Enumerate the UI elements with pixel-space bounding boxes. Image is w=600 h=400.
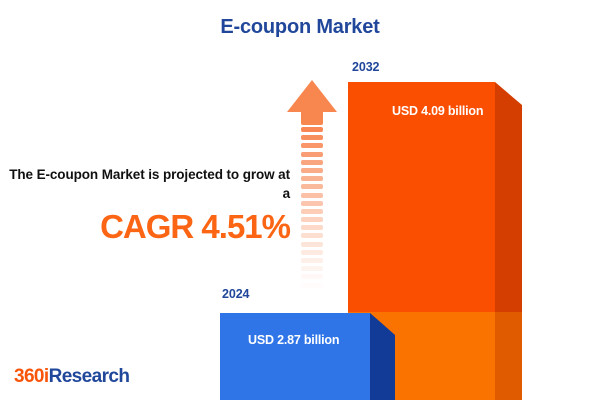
statement-block: The E-coupon Market is projected to grow… — [8, 165, 290, 246]
statement-line-2-text: grow at a — [243, 167, 290, 201]
infographic-canvas: E-coupon Market The E-coupon Market is p… — [0, 0, 600, 400]
arrow-stripe — [301, 135, 323, 140]
brand-logo-part-2: Research — [49, 366, 130, 387]
arrow-stripe — [301, 201, 323, 206]
page-title: E-coupon Market — [0, 16, 600, 39]
arrow-stripe — [301, 193, 323, 198]
arrow-head-icon — [287, 80, 337, 112]
arrow-stripe — [301, 127, 323, 132]
bar-2024: USD 2.87 billion — [220, 313, 400, 400]
arrow-stripe-stack — [301, 127, 323, 295]
bar-2032-value-label: USD 4.09 billion — [392, 104, 483, 118]
cagr-value: CAGR 4.51% — [8, 209, 290, 245]
arrow-stripe — [301, 152, 323, 157]
bar-2024-front-face — [220, 313, 370, 400]
brand-logo-part-1: 360i — [14, 366, 49, 387]
arrow-stripe — [301, 184, 323, 189]
year-label-2024: 2024 — [222, 287, 249, 301]
bar-2032-lower-side-face — [495, 312, 522, 400]
arrow-stripe — [301, 176, 323, 181]
arrow-stripe — [301, 143, 323, 148]
arrow-stripe — [301, 274, 323, 279]
arrow-stripe — [301, 258, 323, 263]
arrow-stripe — [301, 209, 323, 214]
arrow-stripe — [301, 283, 323, 288]
growth-arrow-icon — [287, 80, 337, 295]
year-label-2032: 2032 — [352, 60, 379, 74]
arrow-stripe — [301, 217, 323, 222]
arrow-stripe — [301, 291, 323, 296]
brand-logo: 360iResearch — [14, 366, 129, 388]
statement-line-1-text: The E-coupon Market is projected to — [9, 167, 239, 182]
arrow-stripe — [301, 225, 323, 230]
bar-2024-value-label: USD 2.87 billion — [248, 333, 339, 347]
statement-line-1: The E-coupon Market is projected to grow… — [8, 165, 290, 203]
arrow-stripe — [301, 266, 323, 271]
arrow-stripe — [301, 233, 323, 238]
arrow-neck — [301, 112, 323, 125]
arrow-stripe — [301, 160, 323, 165]
arrow-stripe — [301, 168, 323, 173]
arrow-stripe — [301, 250, 323, 255]
arrow-stripe — [301, 242, 323, 247]
bar-2024-side-face — [370, 313, 395, 400]
